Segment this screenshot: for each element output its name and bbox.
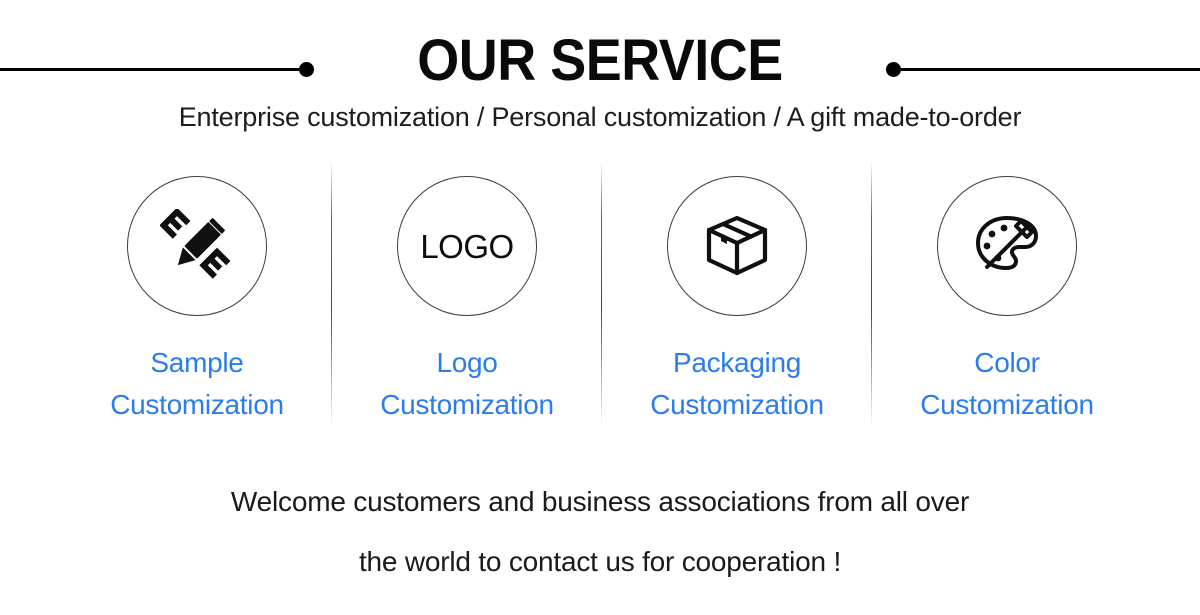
label-line-2: Customization [110, 384, 284, 426]
label-line-2: Customization [650, 384, 824, 426]
logo-text-icon: LOGO [420, 230, 513, 263]
service-card-label-color: Color Customization [920, 342, 1094, 426]
service-banner: OUR SERVICE Enterprise customization / P… [0, 0, 1200, 615]
footer-message: Welcome customers and business associati… [0, 472, 1200, 592]
service-card-row: Sample Customization LOGO Logo Customiza… [62, 152, 1142, 442]
service-card-label-sample: Sample Customization [110, 342, 284, 426]
footer-line-1: Welcome customers and business associati… [0, 472, 1200, 532]
service-card-color[interactable]: Color Customization [872, 152, 1142, 442]
label-line-2: Customization [920, 384, 1094, 426]
label-line-1: Color [974, 347, 1039, 378]
label-line-1: Packaging [673, 347, 801, 378]
package-box-icon [701, 210, 773, 282]
pencil-ruler-icon [160, 209, 234, 283]
label-line-2: Customization [380, 384, 554, 426]
header-section: OUR SERVICE [0, 14, 1200, 92]
icon-circle-packaging [667, 176, 807, 316]
service-card-label-logo: Logo Customization [380, 342, 554, 426]
header-subtitle: Enterprise customization / Personal cust… [0, 99, 1200, 135]
icon-circle-color [937, 176, 1077, 316]
service-card-label-packaging: Packaging Customization [650, 342, 824, 426]
icon-circle-sample [127, 176, 267, 316]
service-card-logo[interactable]: LOGO Logo Customization [332, 152, 602, 442]
icon-circle-logo: LOGO [397, 176, 537, 316]
service-card-packaging[interactable]: Packaging Customization [602, 152, 872, 442]
footer-line-2: the world to contact us for cooperation … [0, 532, 1200, 592]
service-card-sample[interactable]: Sample Customization [62, 152, 332, 442]
label-line-1: Sample [150, 347, 243, 378]
label-line-1: Logo [436, 347, 497, 378]
page-title: OUR SERVICE [42, 30, 1158, 92]
paint-palette-icon [971, 210, 1043, 282]
